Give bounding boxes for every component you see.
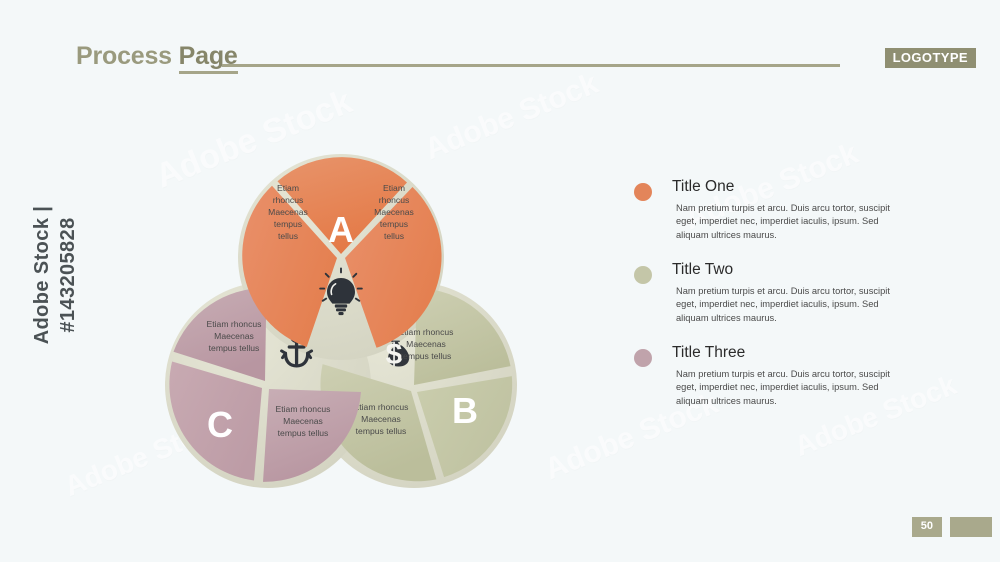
group-b-text-2-line-2: Maecenas [361,414,401,424]
footer-accent-bar [950,517,992,537]
group-a-text-1-line-3: Maecenas [268,207,308,217]
group-b-text-2-line-1: Etiam rhoncus [354,402,409,412]
legend-title: Title Two [672,259,932,280]
group-a-text-1-line-1: Etiam [277,183,299,193]
group-c-letter: C [207,404,233,445]
group-a-text-2-line-2: rhoncus [379,195,410,205]
group-b-text-1-line-2: Maecenas [406,339,446,349]
group-b-text-2-line-3: tempus tellus [356,426,407,436]
page-title-plain: Process [76,42,179,70]
group-c-text-1-line-1: Etiam rhoncus [207,319,262,329]
page-title-accent: Page [179,42,238,74]
page-header: Process Page LOGOTYPE [0,0,1000,90]
legend-title: Title One [672,176,932,197]
group-c-text-1-line-2: Maecenas [214,331,254,341]
legend-title: Title Three [672,342,932,363]
group-c-text-1-line-3: tempus tellus [209,343,260,353]
stock-watermark-sidebar: Adobe Stock | #143205828 [29,155,55,395]
group-a-text-2-line-1: Etiam [383,183,405,193]
page-title: Process Page [76,42,238,71]
legend-item-title-one[interactable]: Title One Nam pretium turpis et arcu. Du… [632,176,932,242]
group-a-text-2-line-5: tellus [384,231,404,241]
legend-item-title-two[interactable]: Title Two Nam pretium turpis et arcu. Du… [632,259,932,325]
legend-bullet-icon [634,183,652,201]
group-a-text-2-line-3: Maecenas [374,207,414,217]
group-c-text-2-line-3: tempus tellus [278,428,329,438]
group-a-letter: A [328,209,354,250]
group-c-text-2-line-1: Etiam rhoncus [276,404,331,414]
group-b-letter: B [452,390,478,431]
legend-list: Title One Nam pretium turpis et arcu. Du… [632,176,932,425]
legend-bullet-icon [634,266,652,284]
legend-body: Nam pretium turpis et arcu. Duis arcu to… [676,368,908,408]
header-divider-rule [222,64,840,67]
group-a-text-1-line-4: tempus [274,219,302,229]
group-c-text-2-line-2: Maecenas [283,416,323,426]
group-a-text-1-line-2: rhoncus [273,195,304,205]
legend-item-title-three[interactable]: Title Three Nam pretium turpis et arcu. … [632,342,932,408]
process-diagram: B $ Etiam rhoncus Maecenas tempus tellus… [126,92,556,502]
legend-body: Nam pretium turpis et arcu. Duis arcu to… [676,202,908,242]
group-a-text-1-line-5: tellus [278,231,298,241]
group-a-text-2-line-4: tempus [380,219,408,229]
logotype-badge[interactable]: LOGOTYPE [885,48,976,68]
legend-body: Nam pretium turpis et arcu. Duis arcu to… [676,285,908,325]
legend-bullet-icon [634,349,652,367]
page-number-badge: 50 [912,517,942,537]
group-b-text-1-line-3: tempus tellus [401,351,452,361]
